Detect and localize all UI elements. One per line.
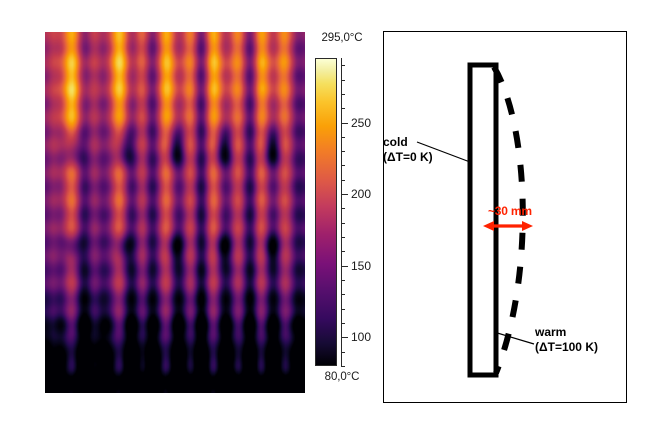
- colorbar-minor-tick: [341, 294, 345, 295]
- cold-label: cold (ΔT=0 K): [383, 135, 433, 165]
- cold-label-line1: cold: [383, 135, 433, 150]
- dimension-arrow: [483, 221, 533, 231]
- colorbar-max-label: 295,0°C: [311, 32, 373, 44]
- cold-label-line2: (ΔT=0 K): [383, 150, 433, 165]
- warm-label: warm (ΔT=100 K): [535, 325, 598, 355]
- thermogram-panel: [45, 32, 305, 393]
- colorbar-major-tick: [341, 266, 348, 267]
- thermal-image: [45, 32, 305, 393]
- colorbar-major-tick: [341, 194, 348, 195]
- colorbar-minor-tick: [341, 237, 345, 238]
- warm-label-line1: warm: [535, 325, 598, 340]
- colorbar-gradient: [315, 58, 337, 366]
- colorbar-axis-line: [341, 58, 342, 366]
- colorbar-major-tick: [341, 123, 348, 124]
- colorbar-minor-tick: [341, 137, 345, 138]
- colorbar-minor-tick: [341, 208, 345, 209]
- colorbar-major-tick: [341, 337, 348, 338]
- wall-rectangle: [470, 65, 496, 375]
- figure-root: 295,0°C 250200150100 80,0°C cold (ΔT=0 K: [0, 0, 654, 428]
- colorbar-minor-tick: [341, 151, 345, 152]
- colorbar-minor-tick: [341, 352, 345, 353]
- colorbar-minor-tick: [341, 309, 345, 310]
- colorbar-minor-tick: [341, 366, 345, 367]
- colorbar-minor-tick: [341, 165, 345, 166]
- colorbar-minor-tick: [341, 223, 345, 224]
- colorbar: 295,0°C 250200150100 80,0°C: [313, 32, 375, 394]
- colorbar-tick-label: 250: [351, 116, 371, 130]
- colorbar-minor-tick: [341, 323, 345, 324]
- colorbar-min-label: 80,0°C: [311, 371, 373, 383]
- colorbar-minor-tick: [341, 280, 345, 281]
- colorbar-minor-tick: [341, 94, 345, 95]
- colorbar-minor-tick: [341, 80, 345, 81]
- colorbar-minor-tick: [341, 251, 345, 252]
- colorbar-minor-tick: [341, 180, 345, 181]
- colorbar-minor-tick: [341, 65, 345, 66]
- colorbar-tick-label: 200: [351, 187, 371, 201]
- warm-label-line2: (ΔT=100 K): [535, 340, 598, 355]
- colorbar-tick-label: 150: [351, 259, 371, 273]
- warm-leader-line: [494, 332, 534, 344]
- colorbar-tick-label: 100: [351, 330, 371, 344]
- dimension-label: ~30 mm: [488, 204, 532, 218]
- colorbar-minor-tick: [341, 108, 345, 109]
- schematic-panel: cold (ΔT=0 K) warm (ΔT=100 K) ~30 mm: [383, 31, 627, 403]
